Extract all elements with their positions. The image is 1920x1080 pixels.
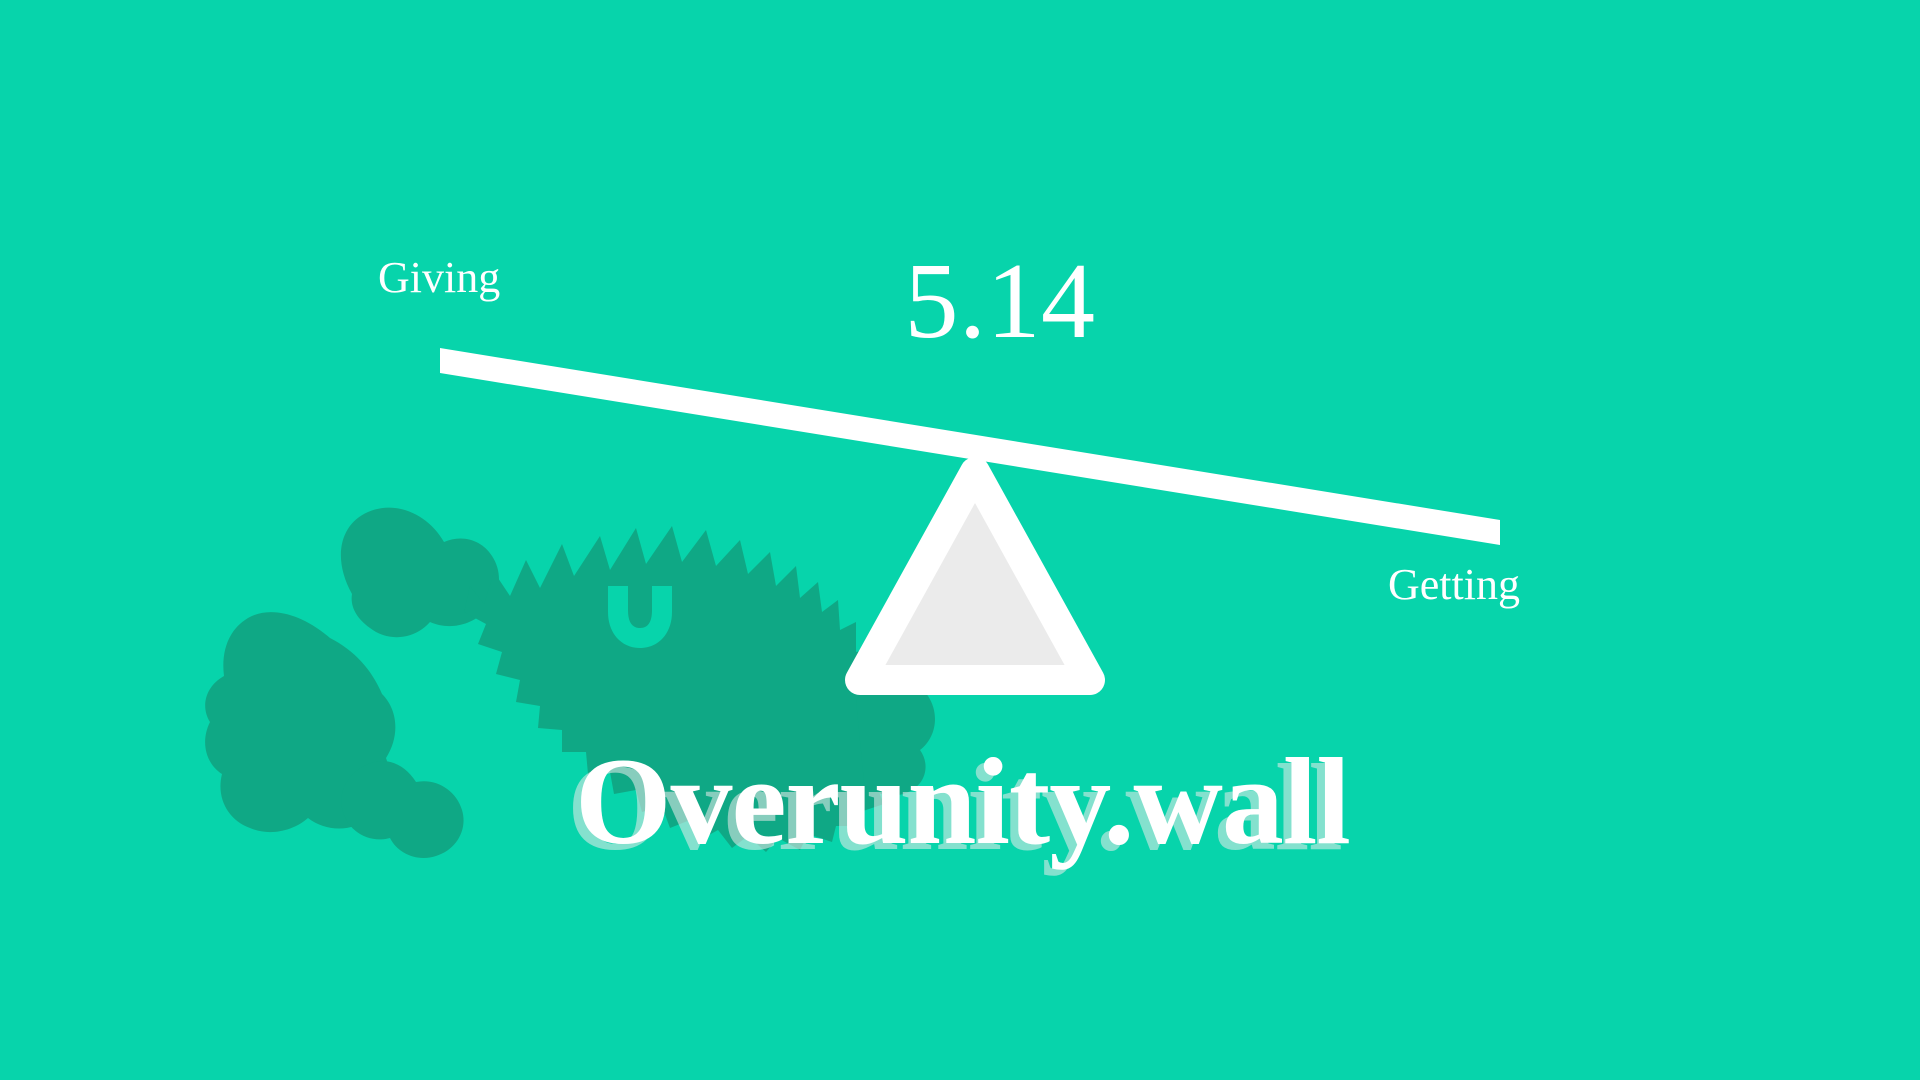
balance-scale-graphic: 5.14 Giving Getting Overunity.wall [0,0,1920,1080]
balance-right-label-getting: Getting [1388,563,1520,607]
balance-left-label-giving: Giving [378,256,500,300]
triangle-fulcrum-icon [860,472,1090,680]
balance-ratio-value: 5.14 [0,248,1920,356]
balance-apparatus [0,0,1920,1080]
site-title: Overunity.wall [575,740,1350,864]
